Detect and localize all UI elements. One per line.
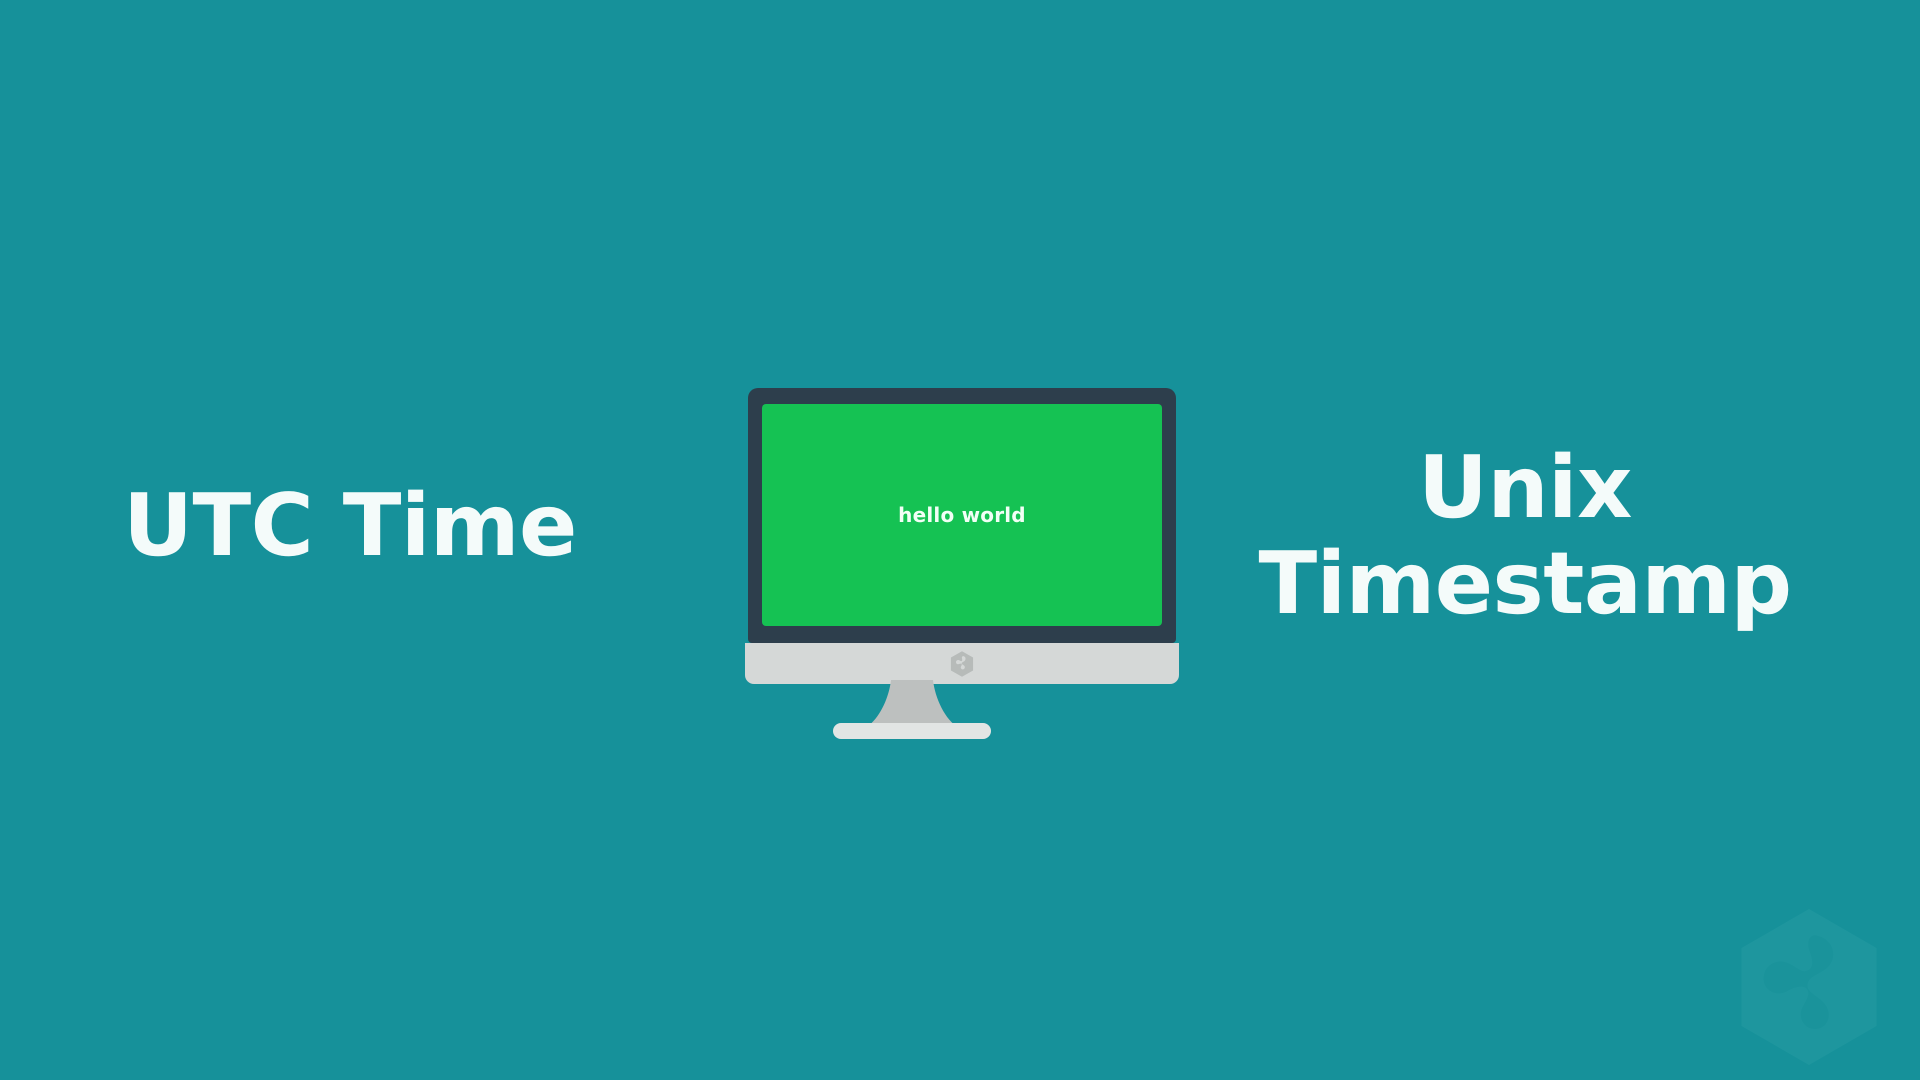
right-headline: Unix Timestamp [1130,440,1920,632]
exercism-watermark-logo [1734,904,1884,1070]
monitor-bezel: hello world [748,388,1176,643]
left-headline: UTC Time [0,478,700,574]
monitor-stand-base [833,723,991,739]
exercism-hex-logo-icon [949,651,975,677]
desktop-monitor-illustration: hello world [748,388,1176,680]
monitor-chin [745,643,1179,684]
screen-text: hello world [898,503,1026,527]
monitor-screen: hello world [762,404,1162,626]
slide-canvas: UTC Time Unix Timestamp hello world [0,0,1920,1080]
